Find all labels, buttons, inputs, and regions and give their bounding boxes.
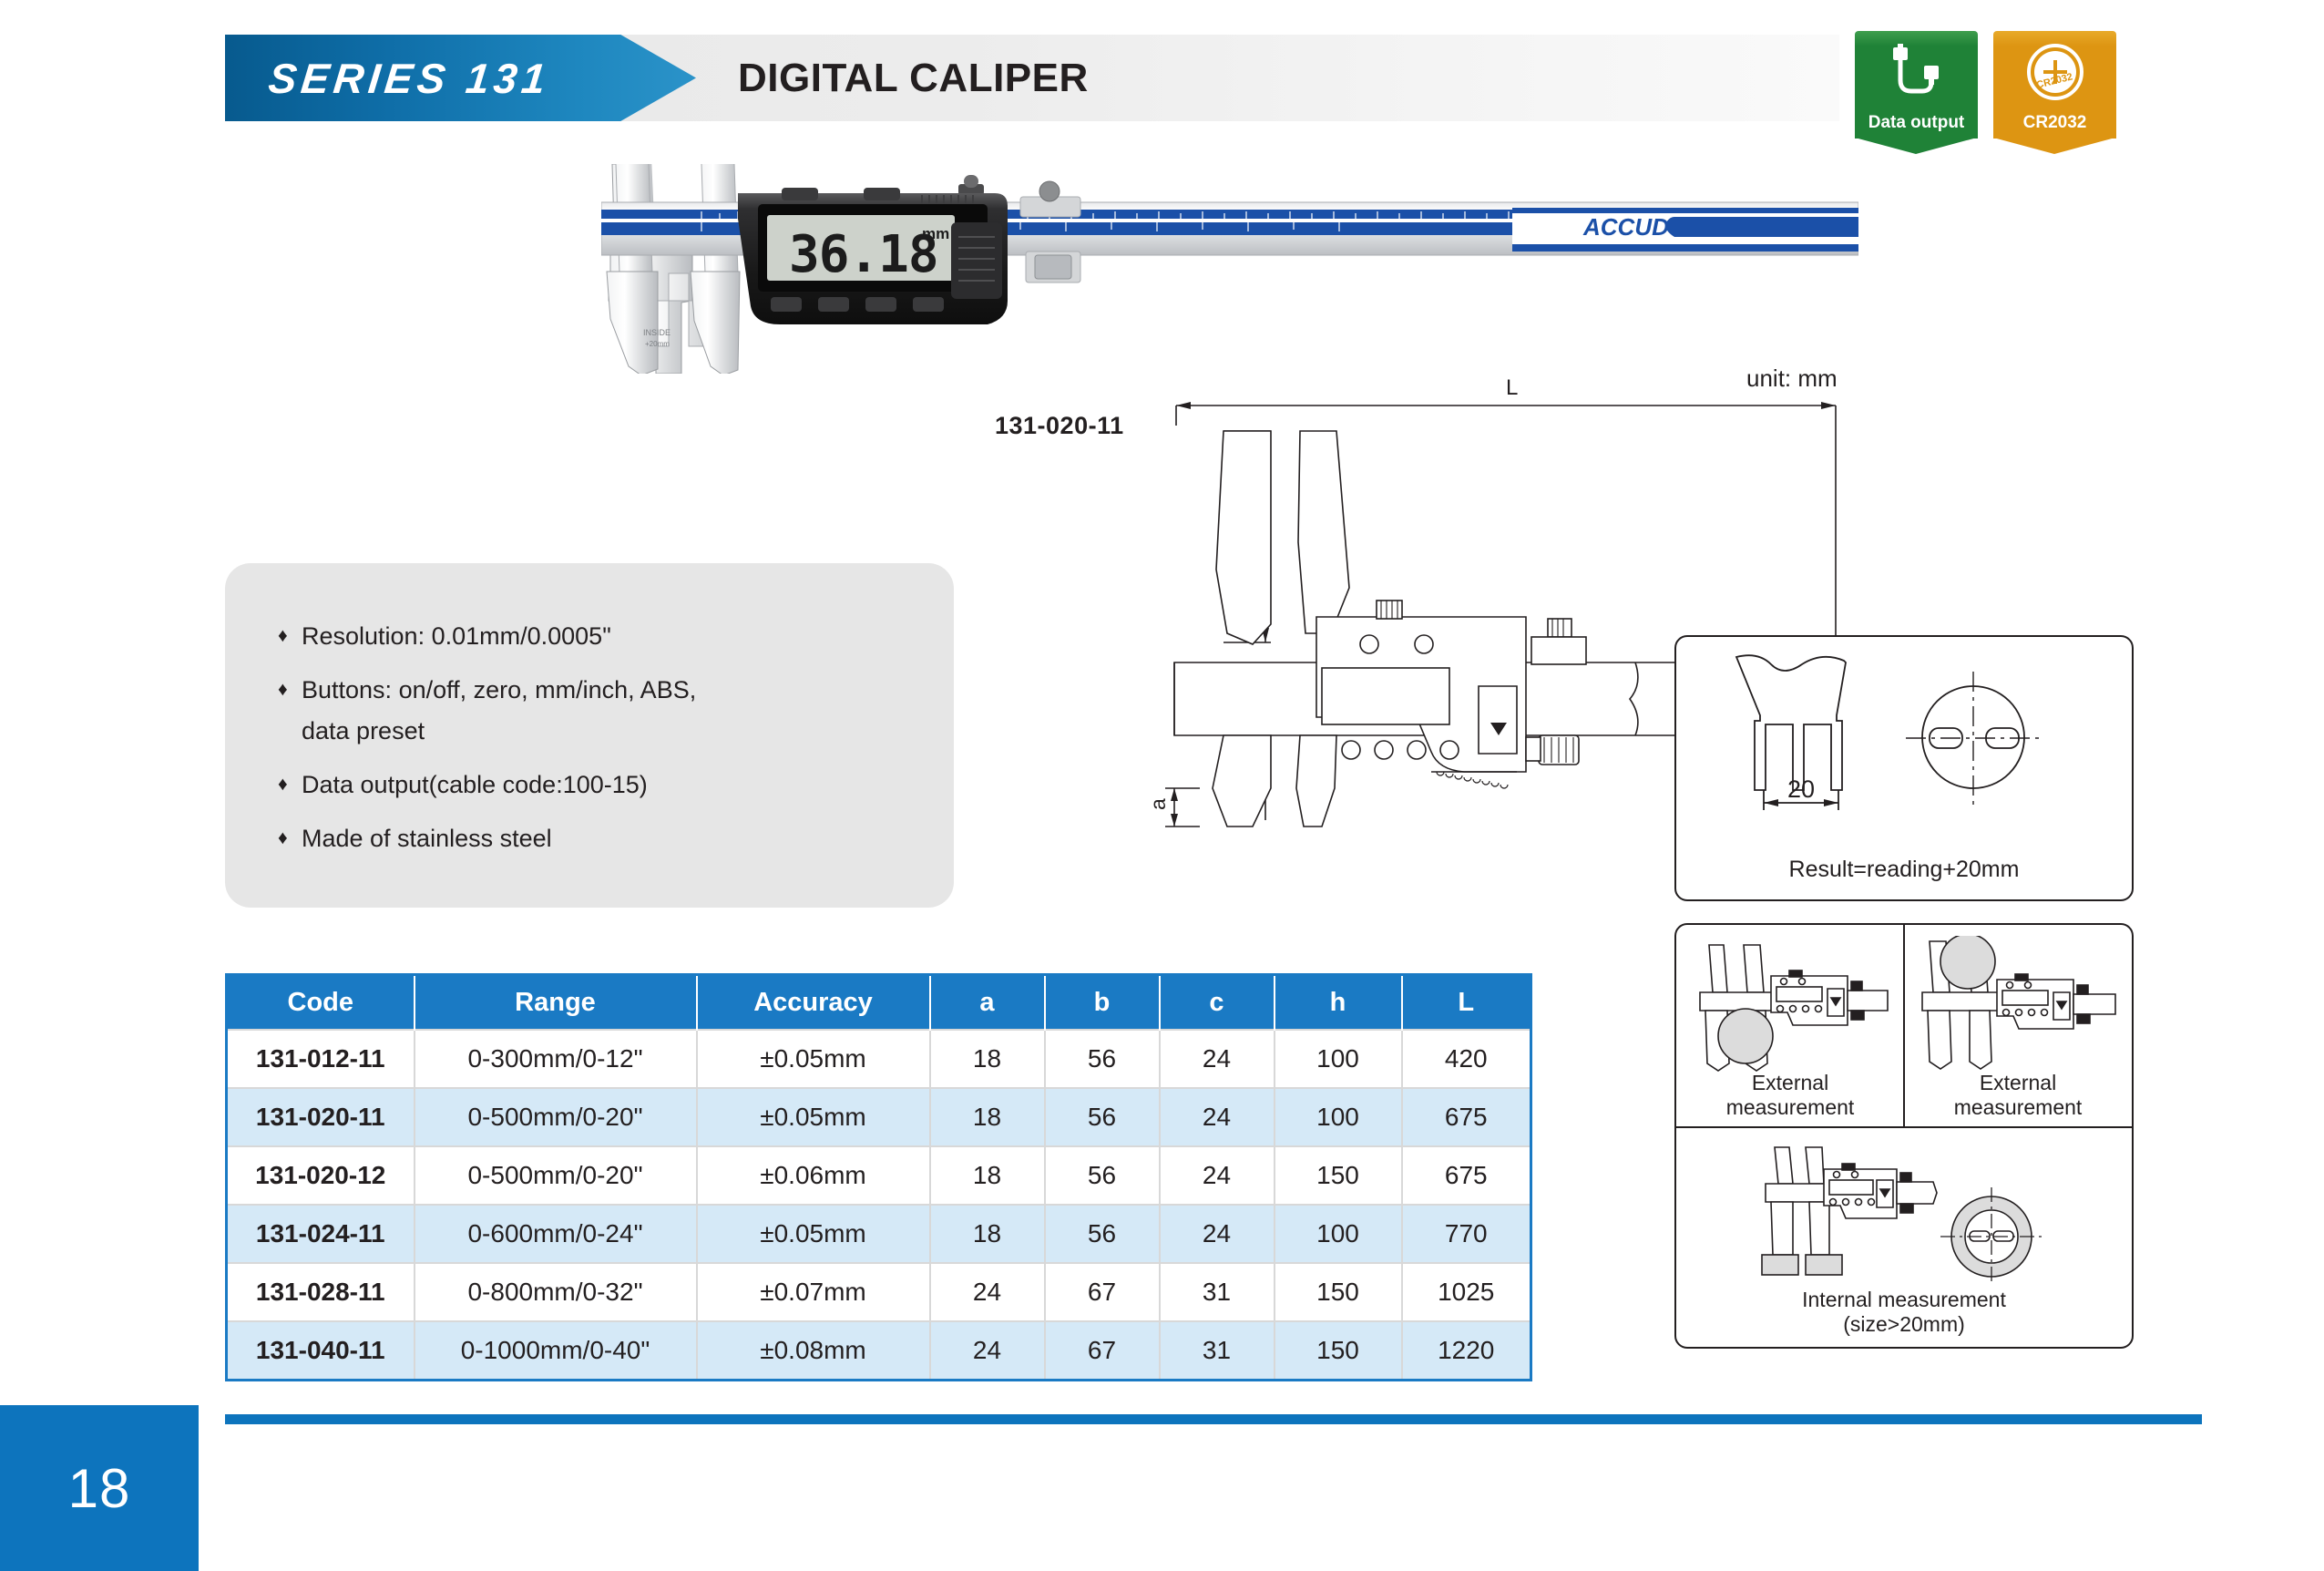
col-header-h: h bbox=[1275, 975, 1402, 1031]
product-model-label: 131-020-11 bbox=[995, 412, 1124, 440]
cell-accuracy: ±0.07mm bbox=[697, 1263, 930, 1321]
cell-b: 56 bbox=[1045, 1088, 1160, 1146]
lcd-value: 36.18 bbox=[789, 225, 938, 284]
col-header-b: b bbox=[1045, 975, 1160, 1031]
cell-a: 18 bbox=[930, 1146, 1045, 1205]
table-header-row: Code Range Accuracy a b c h L bbox=[227, 975, 1531, 1031]
cell-accuracy: ±0.05mm bbox=[697, 1088, 930, 1146]
coin-battery-icon: CR2032 bbox=[1993, 40, 2116, 106]
badge-data-output-label: Data output bbox=[1855, 113, 1978, 133]
bullet-icon: ♦ bbox=[278, 768, 302, 801]
page-number-box: 18 bbox=[0, 1405, 199, 1571]
internal-measurement-caption: Internal measurement (size>20mm) bbox=[1676, 1288, 2132, 1337]
bullet-icon: ♦ bbox=[278, 620, 302, 652]
cell-code: 131-028-11 bbox=[227, 1263, 415, 1321]
measurement-methods-panel: External measurement External measuremen… bbox=[1674, 923, 2134, 1349]
cell-L: 675 bbox=[1402, 1146, 1531, 1205]
features-list: ♦ Resolution: 0.01mm/0.0005" ♦ Buttons: … bbox=[278, 620, 916, 876]
feature-text: Resolution: 0.01mm/0.0005" bbox=[302, 620, 916, 652]
cell-L: 770 bbox=[1402, 1205, 1531, 1263]
table-row[interactable]: 131-024-11 0-600mm/0-24" ±0.05mm 18 56 2… bbox=[227, 1205, 1531, 1263]
cell-h: 100 bbox=[1275, 1030, 1402, 1088]
jaw-detail-diagram: 20 bbox=[1676, 637, 2128, 865]
cell-c: 24 bbox=[1160, 1205, 1275, 1263]
cell-b: 56 bbox=[1045, 1205, 1160, 1263]
page-number: 18 bbox=[68, 1457, 131, 1520]
feature-item: ♦ Resolution: 0.01mm/0.0005" bbox=[278, 620, 916, 652]
external-measurement-caption-1: External measurement bbox=[1682, 1071, 1899, 1120]
specification-table: Code Range Accuracy a b c h L 131-012-11… bbox=[225, 973, 1532, 1381]
badge-data-output: Data output bbox=[1855, 31, 1978, 139]
dim-label-L: L bbox=[1506, 375, 1518, 400]
cell-accuracy: ±0.05mm bbox=[697, 1205, 930, 1263]
col-header-accuracy: Accuracy bbox=[697, 975, 930, 1031]
cell-range: 0-500mm/0-20" bbox=[415, 1146, 697, 1205]
cell-code: 131-024-11 bbox=[227, 1205, 415, 1263]
external-measurement-diagram-1 bbox=[1693, 936, 1889, 1073]
cell-code: 131-040-11 bbox=[227, 1321, 415, 1381]
badge-cr2032: CR2032 CR2032 bbox=[1993, 31, 2116, 139]
cell-range: 0-600mm/0-24" bbox=[415, 1205, 697, 1263]
feature-item: ♦ Made of stainless steel bbox=[278, 822, 916, 855]
cell-a: 18 bbox=[930, 1088, 1045, 1146]
cell-code: 131-012-11 bbox=[227, 1030, 415, 1088]
col-header-L: L bbox=[1402, 975, 1531, 1031]
col-header-c: c bbox=[1160, 975, 1275, 1031]
feature-item: ♦ Buttons: on/off, zero, mm/inch, ABS, bbox=[278, 673, 916, 706]
table-row[interactable]: 131-020-11 0-500mm/0-20" ±0.05mm 18 56 2… bbox=[227, 1088, 1531, 1146]
cell-h: 150 bbox=[1275, 1321, 1402, 1381]
cell-b: 56 bbox=[1045, 1030, 1160, 1088]
dim-label-a: a bbox=[1146, 798, 1170, 810]
cell-a: 18 bbox=[930, 1030, 1045, 1088]
cell-range: 0-1000mm/0-40" bbox=[415, 1321, 697, 1381]
cell-b: 67 bbox=[1045, 1321, 1160, 1381]
table-row[interactable]: 131-012-11 0-300mm/0-12" ±0.05mm 18 56 2… bbox=[227, 1030, 1531, 1088]
methods-divider-vertical bbox=[1903, 925, 1905, 1127]
series-banner: SERIES 131 bbox=[225, 35, 696, 121]
cell-L: 1025 bbox=[1402, 1263, 1531, 1321]
result-formula-caption: Result=reading+20mm bbox=[1676, 857, 2132, 883]
col-header-code: Code bbox=[227, 975, 415, 1031]
external-measurement-diagram-2 bbox=[1915, 936, 2117, 1073]
feature-text: Data output(cable code:100-15) bbox=[302, 768, 916, 801]
digital-readout-head: 36.18 mm bbox=[738, 188, 1008, 324]
feature-item: ♦ Data output(cable code:100-15) bbox=[278, 768, 916, 801]
cell-range: 0-300mm/0-12" bbox=[415, 1030, 697, 1088]
cell-h: 150 bbox=[1275, 1263, 1402, 1321]
cell-a: 18 bbox=[930, 1205, 1045, 1263]
cell-h: 150 bbox=[1275, 1146, 1402, 1205]
table-row[interactable]: 131-020-12 0-500mm/0-20" ±0.06mm 18 56 2… bbox=[227, 1146, 1531, 1205]
page-title: DIGITAL CALIPER bbox=[738, 35, 1089, 121]
features-panel: ♦ Resolution: 0.01mm/0.0005" ♦ Buttons: … bbox=[225, 563, 954, 908]
jaw-marking-inside: INSIDE bbox=[643, 328, 671, 337]
bullet-icon: ♦ bbox=[278, 822, 302, 855]
cell-b: 67 bbox=[1045, 1263, 1160, 1321]
feature-text: Made of stainless steel bbox=[302, 822, 916, 855]
cell-L: 420 bbox=[1402, 1030, 1531, 1088]
cell-c: 24 bbox=[1160, 1146, 1275, 1205]
cell-a: 24 bbox=[930, 1321, 1045, 1381]
feature-text: Buttons: on/off, zero, mm/inch, ABS, bbox=[302, 673, 916, 706]
lcd-unit: mm bbox=[922, 225, 949, 242]
usb-cable-icon bbox=[1855, 40, 1978, 106]
jaw-marking-offset: +20mm bbox=[645, 340, 670, 348]
dimension-20-label: 20 bbox=[1787, 775, 1815, 803]
table-row[interactable]: 131-028-11 0-800mm/0-32" ±0.07mm 24 67 3… bbox=[227, 1263, 1531, 1321]
cell-h: 100 bbox=[1275, 1205, 1402, 1263]
cell-c: 24 bbox=[1160, 1088, 1275, 1146]
product-photo: INSIDE +20mm ACCUD bbox=[601, 164, 1858, 374]
col-header-range: Range bbox=[415, 975, 697, 1031]
cell-accuracy: ±0.05mm bbox=[697, 1030, 930, 1088]
cell-c: 31 bbox=[1160, 1321, 1275, 1381]
cell-b: 56 bbox=[1045, 1146, 1160, 1205]
cell-L: 675 bbox=[1402, 1088, 1531, 1146]
cell-accuracy: ±0.06mm bbox=[697, 1146, 930, 1205]
cell-code: 131-020-12 bbox=[227, 1146, 415, 1205]
cell-accuracy: ±0.08mm bbox=[697, 1321, 930, 1381]
cell-c: 31 bbox=[1160, 1263, 1275, 1321]
footer-rule bbox=[225, 1414, 2202, 1424]
bullet-icon: ♦ bbox=[278, 673, 302, 706]
table-row[interactable]: 131-040-11 0-1000mm/0-40" ±0.08mm 24 67 … bbox=[227, 1321, 1531, 1381]
series-label: SERIES 131 bbox=[266, 54, 552, 103]
cell-L: 1220 bbox=[1402, 1321, 1531, 1381]
cell-a: 24 bbox=[930, 1263, 1045, 1321]
methods-divider-horizontal bbox=[1676, 1126, 2132, 1128]
col-header-a: a bbox=[930, 975, 1045, 1031]
external-measurement-caption-2: External measurement bbox=[1909, 1071, 2126, 1120]
feature-text-continuation: data preset bbox=[302, 714, 916, 747]
cell-h: 100 bbox=[1275, 1088, 1402, 1146]
cell-range: 0-800mm/0-32" bbox=[415, 1263, 697, 1321]
result-panel: 20 Result=reading+20mm bbox=[1674, 635, 2134, 901]
cell-range: 0-500mm/0-20" bbox=[415, 1088, 697, 1146]
brand-wordmark: ACCUD bbox=[1582, 213, 1669, 241]
cell-code: 131-020-11 bbox=[227, 1088, 415, 1146]
badge-cr2032-label: CR2032 bbox=[1993, 113, 2116, 133]
cell-c: 24 bbox=[1160, 1030, 1275, 1088]
internal-measurement-diagram bbox=[1758, 1142, 2059, 1288]
